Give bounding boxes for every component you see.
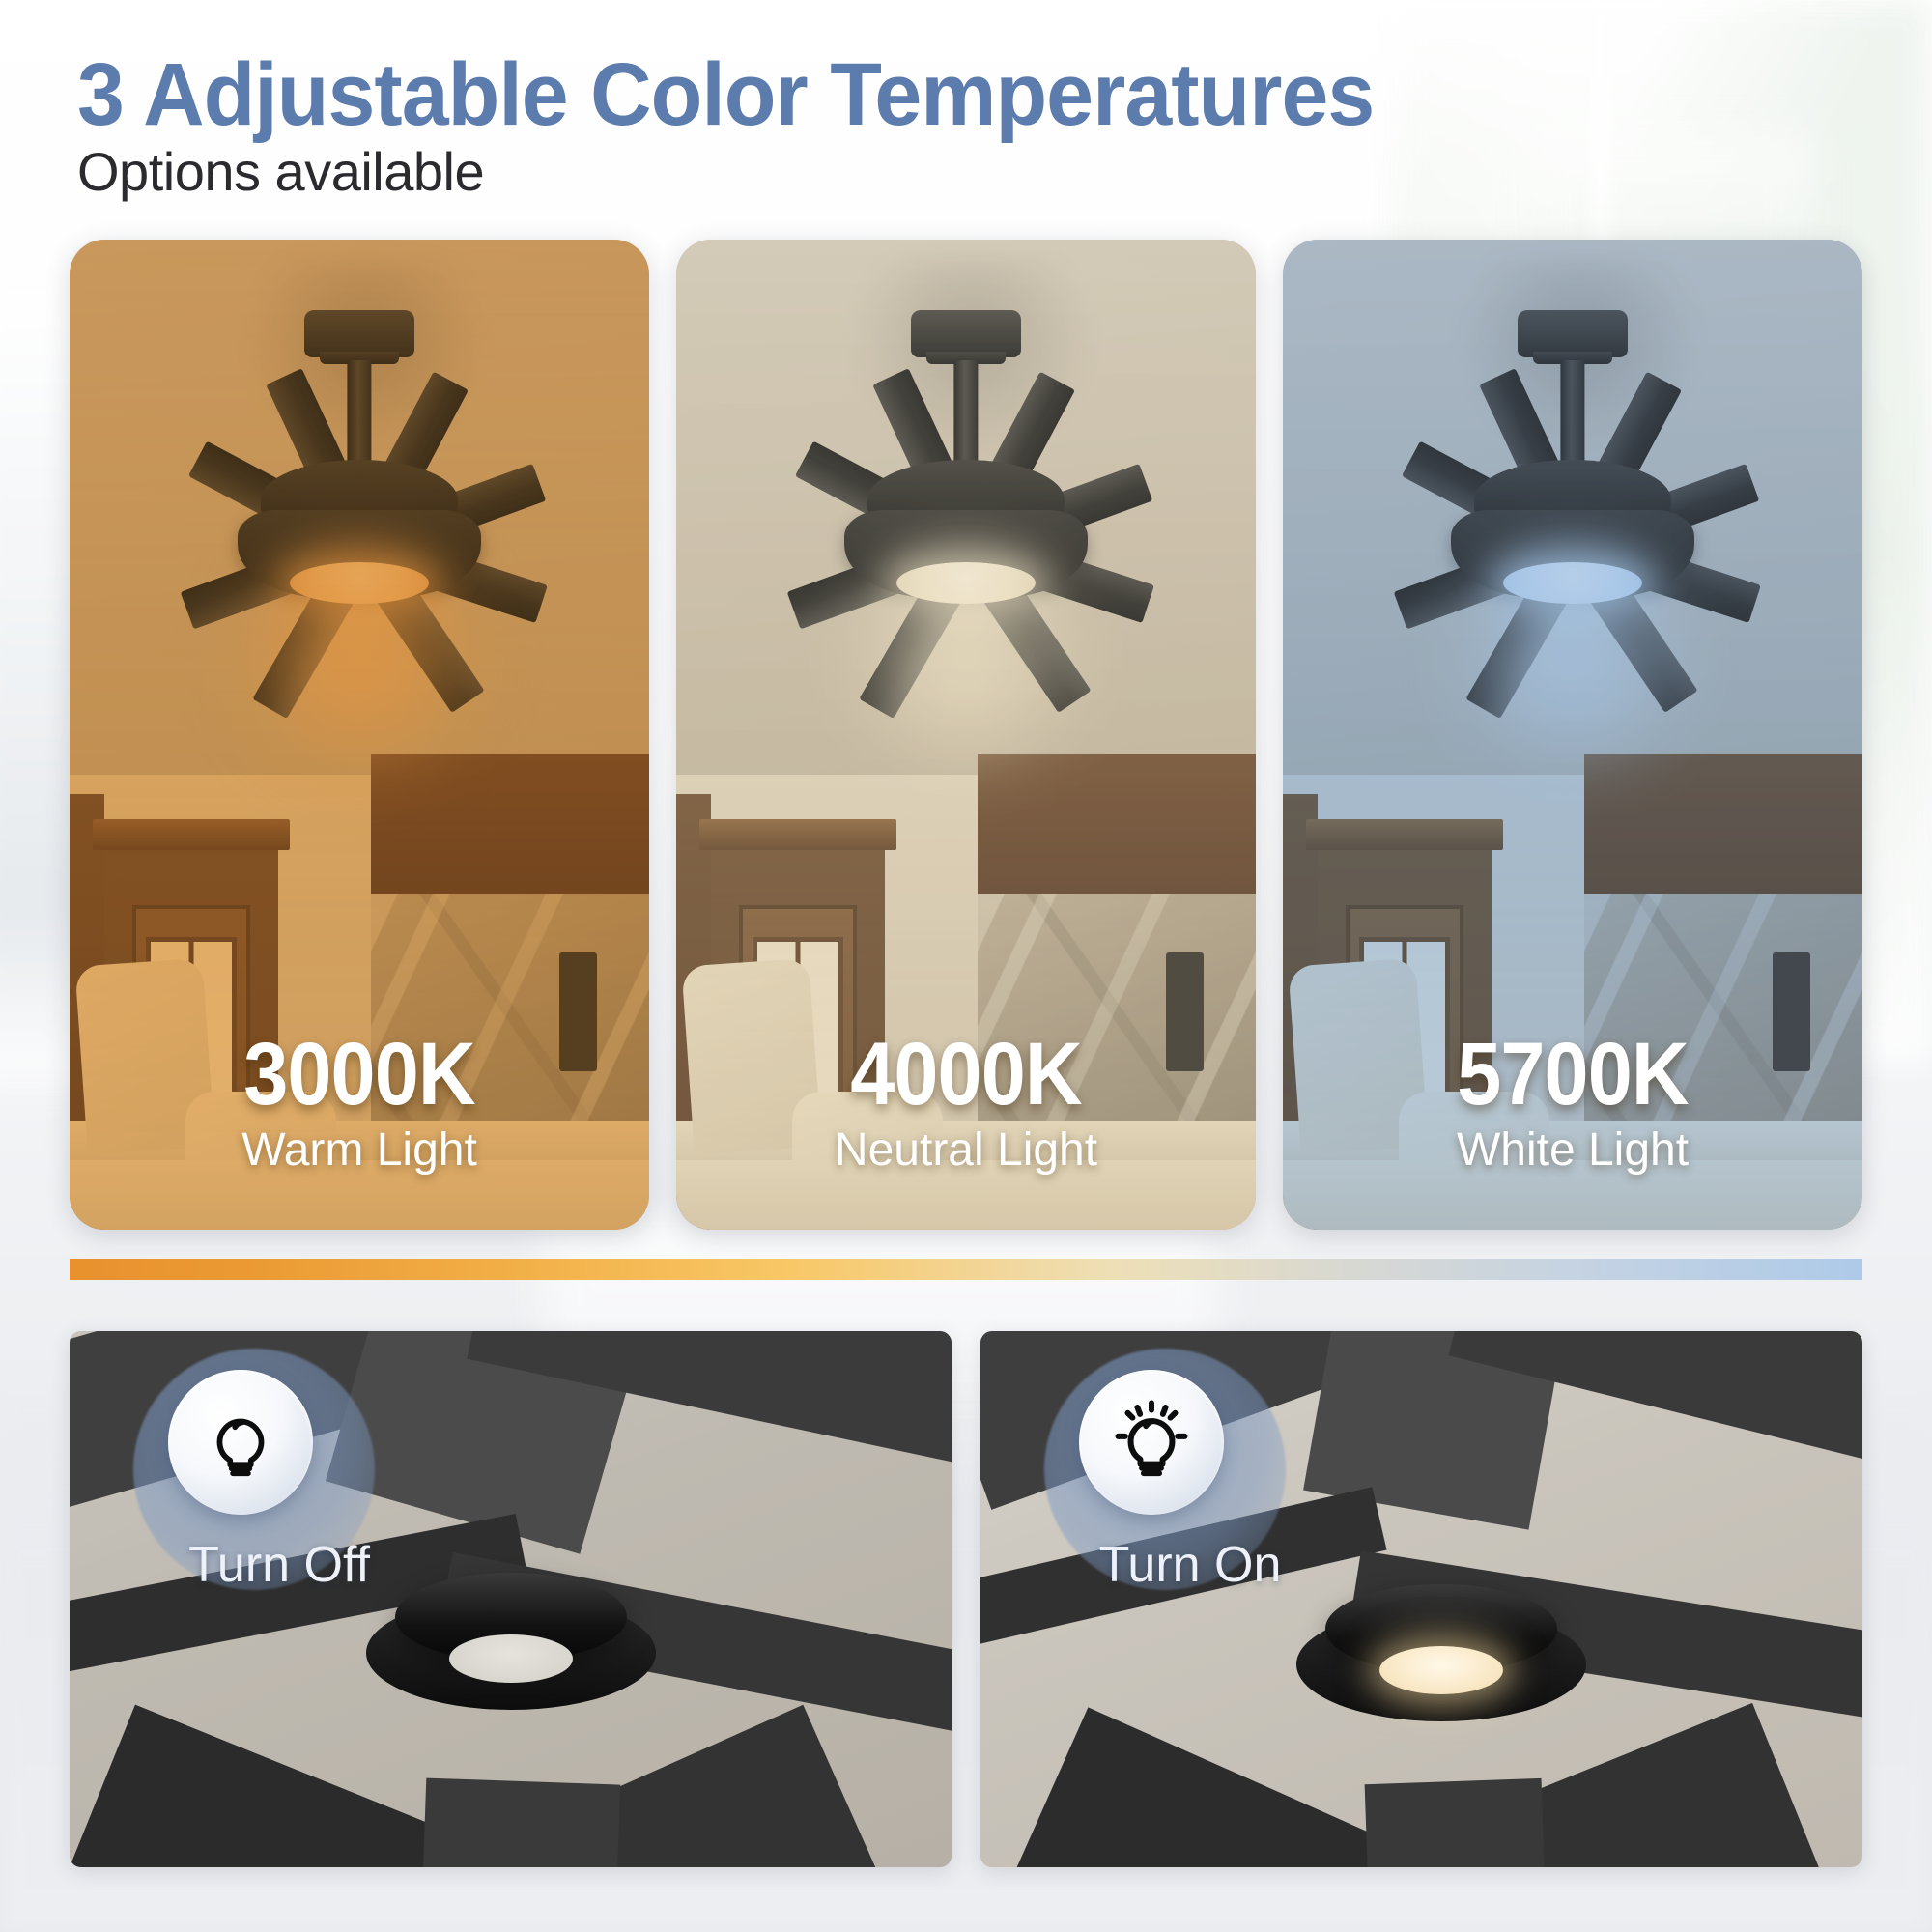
turn-on-label: Turn On [1069, 1536, 1311, 1594]
kelvin-value: 5700K [1312, 1033, 1833, 1117]
turn-on-badge[interactable]: Turn On [1069, 1370, 1311, 1602]
color-temperature-card-4000k[interactable]: 4000K Neutral Light [676, 240, 1256, 1230]
page-title: 3 Adjustable Color Temperatures [77, 50, 1374, 139]
page-subtitle: Options available [77, 145, 484, 199]
color-temperature-card-5700k[interactable]: 5700K White Light [1283, 240, 1862, 1230]
card-caption: 3000K Warm Light [70, 1033, 649, 1176]
card-caption: 4000K Neutral Light [676, 1033, 1256, 1176]
kelvin-value: 4000K [705, 1033, 1227, 1117]
light-glow [821, 537, 1111, 775]
turn-off-label: Turn Off [158, 1536, 400, 1594]
card-caption: 5700K White Light [1283, 1033, 1862, 1176]
light-control-panel-turn-on[interactable]: Turn On [980, 1331, 1862, 1867]
kelvin-value: 3000K [99, 1033, 620, 1117]
light-type-label: White Light [1283, 1126, 1862, 1175]
light-bulb-on-icon[interactable] [1079, 1370, 1224, 1515]
light-lens [1379, 1646, 1503, 1694]
light-bulb-off-icon[interactable] [168, 1370, 313, 1515]
light-lens [449, 1634, 573, 1683]
light-control-panel-row: Turn Off [70, 1331, 1862, 1867]
light-glow [1428, 537, 1718, 775]
light-type-label: Warm Light [70, 1126, 649, 1175]
color-temperature-card-row: 3000K Warm Light [70, 240, 1862, 1230]
color-temperature-gradient-bar [70, 1259, 1862, 1280]
light-type-label: Neutral Light [676, 1126, 1256, 1175]
light-control-panel-turn-off[interactable]: Turn Off [70, 1331, 952, 1867]
color-temperature-card-3000k[interactable]: 3000K Warm Light [70, 240, 649, 1230]
turn-off-badge[interactable]: Turn Off [158, 1370, 400, 1602]
light-glow [214, 537, 504, 775]
